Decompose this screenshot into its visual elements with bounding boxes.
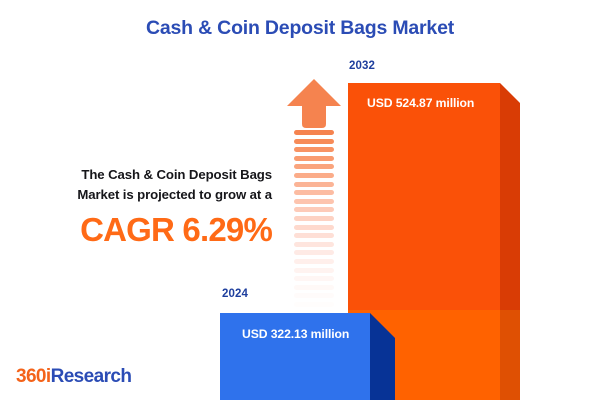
arrow-shaft-segment bbox=[294, 216, 334, 221]
arrow-shaft-segment bbox=[294, 233, 334, 238]
logo-mark-text: 360i bbox=[16, 366, 51, 387]
arrow-shaft-segment bbox=[294, 302, 334, 307]
caption-line-2: Market is projected to grow at a bbox=[20, 185, 272, 205]
arrow-shaft-segment bbox=[294, 190, 334, 195]
arrow-shaft-segment bbox=[294, 207, 334, 212]
caption-block: The Cash & Coin Deposit Bags Market is p… bbox=[20, 165, 272, 249]
arrow-shaft-segment bbox=[294, 285, 334, 290]
arrow-shaft bbox=[294, 130, 334, 290]
bar-2032-side-face-overlap bbox=[500, 310, 520, 400]
arrow-shaft-segment bbox=[294, 173, 334, 178]
bar-2024-side-face bbox=[370, 313, 395, 400]
arrow-head-icon bbox=[286, 78, 342, 130]
bar-value-2024: USD 322.13 million bbox=[242, 327, 349, 341]
arrow-shaft-segment bbox=[294, 130, 334, 135]
bar-label-2032: 2032 bbox=[349, 60, 375, 72]
brand-logo: 360iResearch bbox=[16, 366, 131, 388]
upward-growth-arrow bbox=[286, 78, 342, 290]
bar-value-2032: USD 524.87 million bbox=[367, 96, 474, 110]
caption-line-1: The Cash & Coin Deposit Bags bbox=[20, 165, 272, 185]
arrow-shaft-segment bbox=[294, 268, 334, 273]
arrow-shaft-segment bbox=[294, 259, 334, 264]
arrow-shaft-segment bbox=[294, 242, 334, 247]
arrow-shaft-segment bbox=[294, 182, 334, 187]
logo-word-text: Research bbox=[51, 366, 132, 387]
arrow-shaft-segment bbox=[294, 250, 334, 255]
arrow-shaft-segment bbox=[294, 147, 334, 152]
bar-label-2024: 2024 bbox=[222, 288, 248, 300]
arrow-shaft-segment bbox=[294, 293, 334, 298]
arrow-shaft-segment bbox=[294, 156, 334, 161]
arrow-shaft-segment bbox=[294, 139, 334, 144]
arrow-shaft-segment bbox=[294, 225, 334, 230]
arrow-shaft-segment bbox=[294, 199, 334, 204]
arrow-shaft-segment bbox=[294, 164, 334, 169]
cagr-value: CAGR 6.29% bbox=[20, 211, 272, 249]
page-title: Cash & Coin Deposit Bags Market bbox=[0, 17, 600, 40]
arrow-shaft-segment bbox=[294, 276, 334, 281]
infographic-canvas: Cash & Coin Deposit Bags Market The Cash… bbox=[0, 0, 600, 400]
